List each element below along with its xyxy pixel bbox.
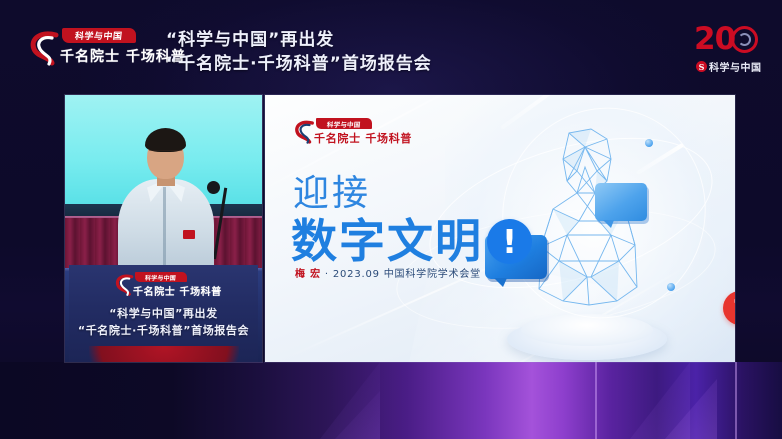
header-bar: 科学与中国 千名院士 千场科普 “科学与中国”再出发 “千名院士·千场科普”首场… (0, 0, 782, 95)
data-node-1 (645, 139, 653, 147)
anniversary-number: 20 (694, 24, 735, 55)
speech-bubble-light-icon (595, 183, 647, 221)
speaker-torso (118, 179, 214, 273)
anniversary-ring-icon (731, 26, 758, 53)
presentation-slide-panel[interactable]: 科学与中国 千名院士 千场科普 迎接 数字文明 ! ? 梅 宏 · 2023.0… (265, 95, 735, 362)
slide-program-logo: 科学与中国 千名院士 千场科普 (292, 118, 402, 146)
podium-sign-title-line2: “千名院士·千场科普”首场报告会 (69, 322, 258, 339)
anniversary-caption: S 科学与中国 (696, 59, 762, 74)
decorative-bottom-band (0, 362, 782, 439)
speaker-video-panel[interactable]: 科学与中国 千名院士 千场科普 “科学与中国”再出发 “千名院士·千场科普”首场… (65, 95, 262, 362)
slide-byline: 梅 宏 · 2023.09 中国科学院学术会堂 (295, 265, 481, 280)
podium-sign-title-line1: “科学与中国”再出发 (69, 305, 258, 322)
slide-logo-banner: 科学与中国 (316, 118, 372, 129)
exclamation-mark-icon: ! (487, 219, 532, 264)
speaker-glasses-icon (149, 150, 182, 159)
program-logo: 科学与中国 千名院士 千场科普 (24, 27, 164, 71)
slide-byline-speaker: 梅 宏 (295, 269, 321, 280)
band-divider-1 (595, 362, 597, 439)
microphone-head-icon (207, 181, 220, 194)
program-logo-banner-text: 科学与中国 (75, 29, 124, 42)
speaker-shirt-placket (163, 187, 166, 271)
slide-headline-line1: 迎接 (293, 175, 371, 213)
speaker-badge (183, 230, 195, 239)
podium-sign: 科学与中国 千名院士 千场科普 “科学与中国”再出发 “千名院士·千场科普”首场… (69, 265, 258, 362)
podium-logo-banner: 科学与中国 (135, 272, 187, 282)
header-title-line1: “科学与中国”再出发 (166, 28, 432, 52)
slide-headline-line2-row: 数字文明 ! (291, 217, 532, 265)
slide-logo-banner-text: 科学与中国 (327, 119, 362, 129)
anniversary-logo: 20 S 科学与中国 (694, 24, 760, 74)
header-title: “科学与中国”再出发 “千名院士·千场科普”首场报告会 (166, 28, 432, 76)
band-divider-2 (735, 362, 737, 439)
slide-logo-subtitle: 千名院士 千场科普 (314, 130, 412, 146)
podium-sign-logo: 科学与中国 千名院士 千场科普 (113, 272, 217, 298)
slide-byline-rest: · 2023.09 中国科学院学术会堂 (321, 269, 481, 280)
broadcast-screen: 科学与中国 千名院士 千场科普 “科学与中国”再出发 “千名院士·千场科普”首场… (0, 0, 782, 439)
header-title-line2: “千名院士·千场科普”首场报告会 (166, 52, 432, 76)
program-logo-banner: 科学与中国 (62, 28, 136, 43)
podium-sign-title: “科学与中国”再出发 “千名院士·千场科普”首场报告会 (69, 305, 258, 339)
slide-headline-line2: 数字文明 (291, 217, 483, 265)
pedestal-top (521, 314, 653, 346)
podium-logo-banner-text: 科学与中国 (145, 273, 177, 282)
data-node-2 (667, 283, 675, 291)
anniversary-monogram-icon: S (696, 61, 707, 72)
podium-logo-subtitle: 千名院士 千场科普 (133, 283, 222, 298)
podium-sign-red-arc (89, 346, 239, 362)
anniversary-caption-text: 科学与中国 (709, 59, 762, 74)
